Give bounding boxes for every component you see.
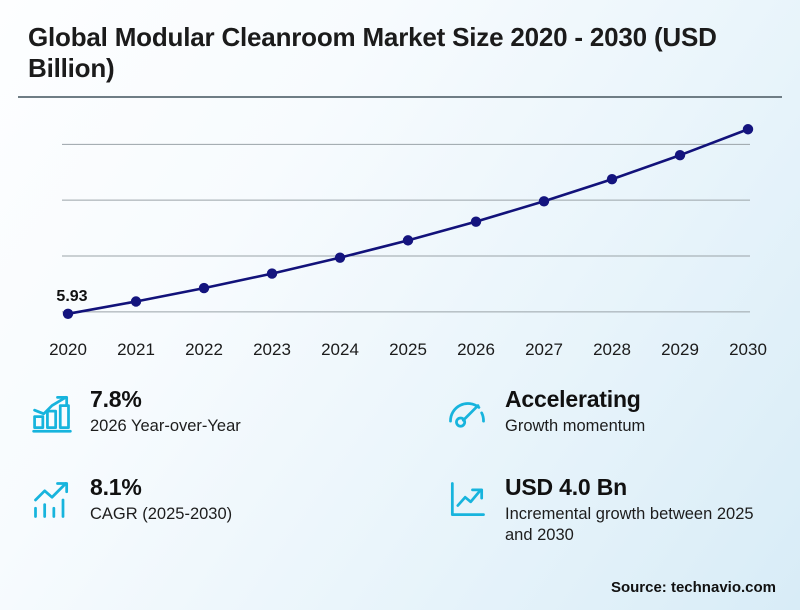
stat-text: 7.8% 2026 Year-over-Year: [90, 384, 241, 437]
stat-value: 8.1%: [90, 474, 232, 501]
x-tick-label: 2020: [49, 340, 87, 360]
x-tick-label: 2024: [321, 340, 359, 360]
stat-label: Incremental growth between 2025 and 2030: [505, 504, 778, 545]
data-point-marker: [675, 150, 685, 160]
stat-card-incremental: USD 4.0 Bn Incremental growth between 20…: [445, 472, 778, 560]
data-point-marker: [63, 309, 73, 319]
stat-cards: 7.8% 2026 Year-over-Year Accelerating Gr…: [30, 384, 778, 560]
x-tick-label: 2025: [389, 340, 427, 360]
trend-up-bars-icon: [30, 478, 74, 522]
x-tick-label: 2030: [729, 340, 767, 360]
chart-gridlines: [62, 144, 750, 311]
stat-card-cagr: 8.1% CAGR (2025-2030): [30, 472, 445, 560]
title-divider: [18, 96, 782, 98]
x-tick-label: 2029: [661, 340, 699, 360]
x-tick-label: 2021: [117, 340, 155, 360]
stat-value: Accelerating: [505, 386, 645, 413]
stat-text: Accelerating Growth momentum: [505, 384, 645, 437]
data-point-marker: [607, 174, 617, 184]
x-axis-tick-labels: 2020202120222023202420252026202720282029…: [0, 340, 800, 370]
stat-card-yoy: 7.8% 2026 Year-over-Year: [30, 384, 445, 472]
stat-card-momentum: Accelerating Growth momentum: [445, 384, 778, 472]
x-tick-label: 2027: [525, 340, 563, 360]
page-title: Global Modular Cleanroom Market Size 202…: [28, 22, 772, 83]
stat-label: Growth momentum: [505, 416, 645, 437]
x-tick-label: 2023: [253, 340, 291, 360]
line-chart: 5.93: [0, 104, 800, 362]
stat-label: CAGR (2025-2030): [90, 504, 232, 525]
line-chart-arrow-icon: [445, 478, 489, 522]
stat-value: 7.8%: [90, 386, 241, 413]
bar-chart-growth-icon: [30, 390, 74, 434]
data-point-marker: [199, 283, 209, 293]
source-attribution: Source: technavio.com: [611, 579, 776, 596]
data-point-label: 5.93: [56, 288, 87, 305]
data-point-marker: [471, 216, 481, 226]
data-point-marker: [131, 296, 141, 306]
title-block: Global Modular Cleanroom Market Size 202…: [28, 22, 772, 83]
series-point-labels: 5.93: [56, 288, 87, 305]
stat-label: 2026 Year-over-Year: [90, 416, 241, 437]
data-point-marker: [403, 235, 413, 245]
data-point-marker: [743, 124, 753, 134]
stat-value: USD 4.0 Bn: [505, 474, 778, 501]
stat-text: USD 4.0 Bn Incremental growth between 20…: [505, 472, 778, 545]
series-line-path: [68, 129, 748, 314]
data-point-marker: [539, 196, 549, 206]
x-tick-label: 2026: [457, 340, 495, 360]
infographic-root: Global Modular Cleanroom Market Size 202…: [0, 0, 800, 610]
stat-text: 8.1% CAGR (2025-2030): [90, 472, 232, 525]
chart-canvas: 5.93: [0, 104, 800, 362]
data-point-marker: [335, 252, 345, 262]
speedometer-icon: [445, 390, 489, 434]
x-tick-label: 2028: [593, 340, 631, 360]
series-markers: [63, 124, 753, 319]
data-point-marker: [267, 268, 277, 278]
x-tick-label: 2022: [185, 340, 223, 360]
